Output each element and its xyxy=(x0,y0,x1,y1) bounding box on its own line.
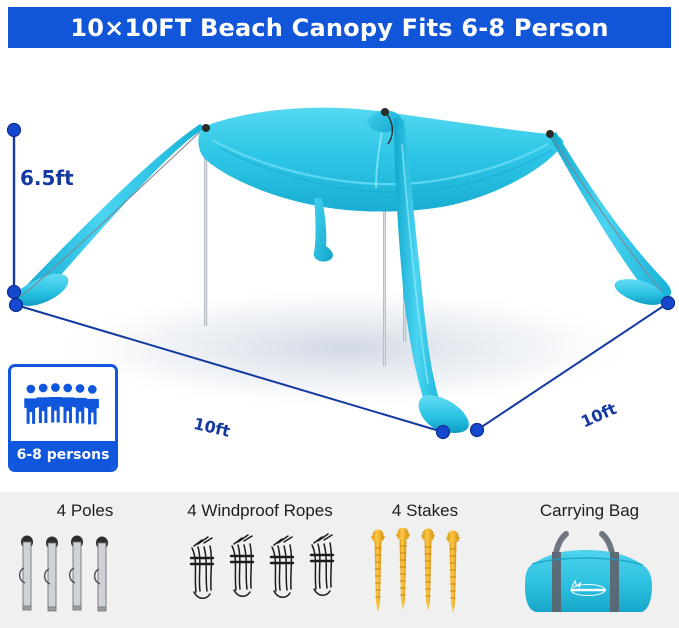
guy-ropes-icon xyxy=(170,528,350,626)
accessory-item-stakes: 4 Stakes xyxy=(350,492,500,628)
dimension-label-height: 6.5ft xyxy=(20,166,74,190)
accessory-label-poles: 4 Poles xyxy=(0,501,170,521)
canopy-leg-right xyxy=(549,132,671,298)
tent-poles-icon xyxy=(0,528,170,626)
dim-dot-right-base xyxy=(662,297,675,310)
page-title: 10×10FT Beach Canopy Fits 6-8 Person xyxy=(70,14,608,42)
people-group-icon xyxy=(11,367,115,443)
accessories-strip: 4 Poles xyxy=(0,492,679,628)
dim-dot-height-top xyxy=(8,124,21,137)
ground-shadow xyxy=(45,286,645,410)
duffel-bag-icon xyxy=(500,528,679,626)
accessory-item-ropes: 4 Windproof Ropes xyxy=(170,492,350,628)
capacity-caption: 6-8 persons xyxy=(11,441,115,469)
title-banner: 10×10FT Beach Canopy Fits 6-8 Person xyxy=(8,7,671,48)
bag-strap-right xyxy=(610,552,619,612)
capacity-badge: 6-8 persons xyxy=(8,364,118,472)
dim-dot-front-left xyxy=(437,426,450,439)
accessory-label-ropes: 4 Windproof Ropes xyxy=(170,501,350,521)
dim-dot-front-right xyxy=(471,424,484,437)
corner-cap-right xyxy=(546,130,554,138)
corner-cap-left xyxy=(202,124,210,132)
accessory-label-bag: Carrying Bag xyxy=(500,501,679,521)
bag-body xyxy=(525,550,652,612)
accessory-item-bag: Carrying Bag xyxy=(500,492,679,628)
dim-dot-left-base xyxy=(10,299,23,312)
accessory-item-poles: 4 Poles xyxy=(0,492,170,628)
screw-stakes-icon xyxy=(350,528,500,626)
accessory-label-stakes: 4 Stakes xyxy=(350,501,500,521)
bag-strap-left xyxy=(552,552,561,612)
dim-dot-height-bottom xyxy=(8,286,21,299)
